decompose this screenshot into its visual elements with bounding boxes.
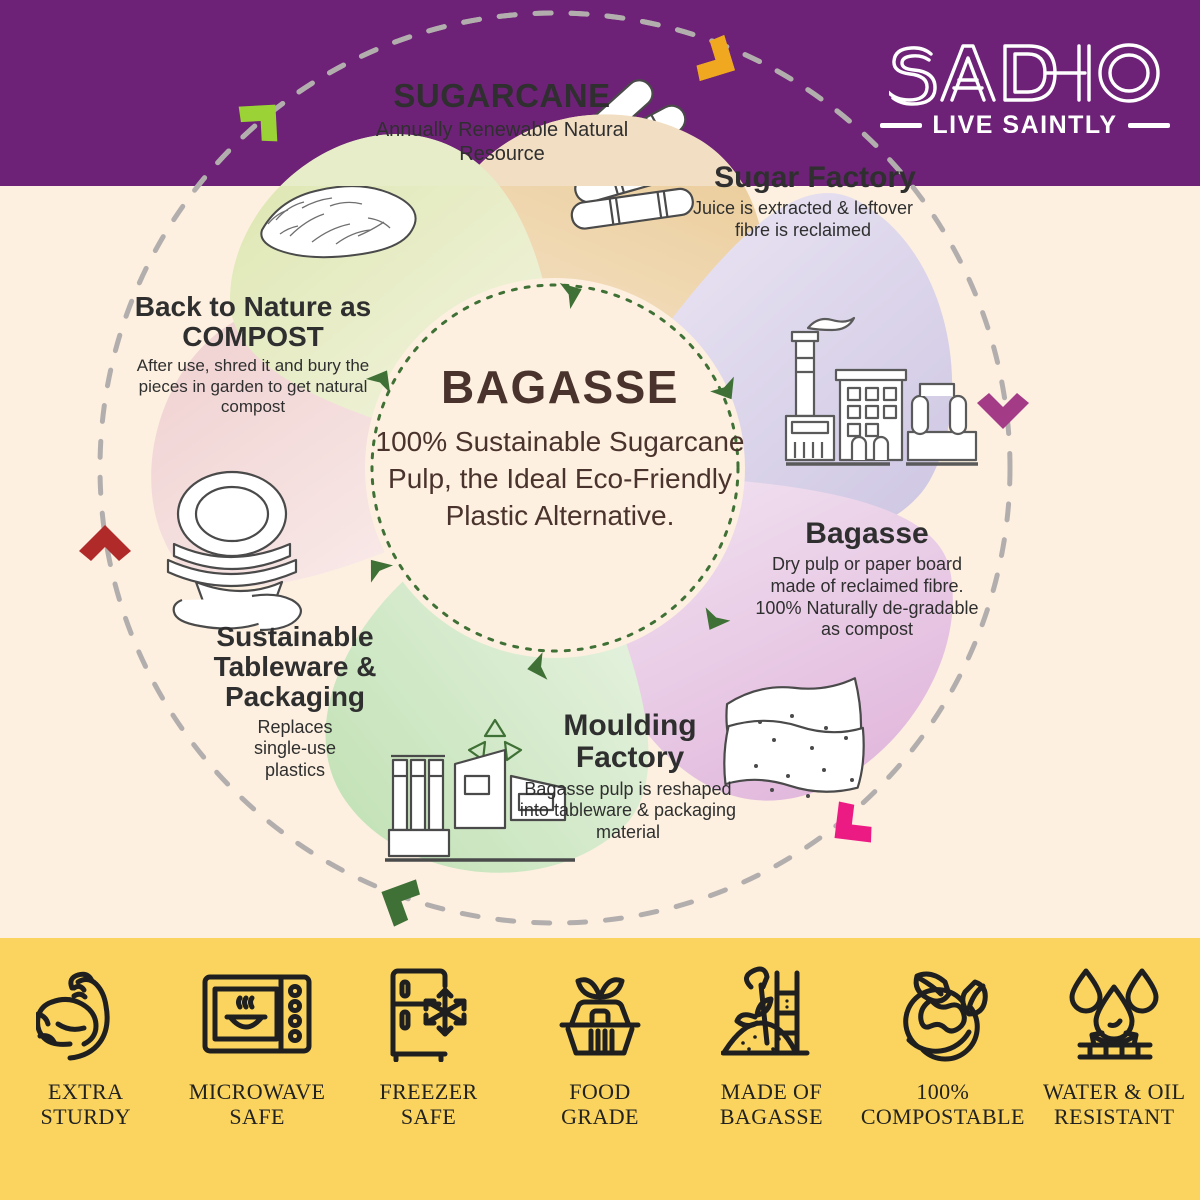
freezer-icon [381, 960, 477, 1068]
benefit-made-of-bagasse: MADE OFBAGASSE [696, 960, 846, 1129]
step-title-moulding-factory: Moulding Factory [520, 710, 740, 775]
arrow-top-left [232, 87, 295, 149]
step-desc-moulding-factory: Bagasse pulp is reshaped into tableware … [508, 779, 748, 844]
benefit-label-freezer-safe: FREEZERSAFE [379, 1080, 477, 1129]
step-title-compost: Back to Nature as COMPOST [128, 292, 378, 352]
hub-title: BAGASSE [370, 360, 750, 414]
step-label-compost: Back to Nature as COMPOST After use, shr… [128, 292, 378, 418]
arrow-left [79, 525, 131, 561]
water-oil-drops-icon [1064, 960, 1164, 1068]
step-title-tableware: Sustainable Tableware & Packaging [195, 622, 395, 713]
step-label-sugar-factory: Sugar Factory Juice is extracted & lefto… [700, 162, 930, 242]
microwave-icon [202, 960, 312, 1068]
benefit-label-microwave-safe: MICROWAVESAFE [189, 1080, 325, 1129]
step-desc-sugarcane: Annually Renewable Natural Resource [352, 118, 652, 166]
benefit-compostable: 100%COMPOSTABLE [868, 960, 1018, 1129]
step-desc-sugar-factory: Juice is extracted & leftover fibre is r… [688, 198, 918, 241]
step-title-sugar-factory: Sugar Factory [700, 162, 930, 194]
step-label-bagasse: Bagasse Dry pulp or paper board made of … [752, 518, 982, 641]
food-container-icon [548, 960, 652, 1068]
tableware-stack-icon [168, 472, 301, 630]
benefit-water-oil-resistant: WATER & OILRESISTANT [1039, 960, 1189, 1129]
benefit-label-made-of-bagasse: MADE OFBAGASSE [720, 1080, 823, 1129]
hub-label: BAGASSE 100% Sustainable Sugarcane Pulp,… [370, 360, 750, 535]
arrow-bottom-left [370, 868, 425, 930]
arrow-top-overlay [691, 30, 747, 93]
sugarcane-soil-icon [721, 960, 821, 1068]
infographic-root: LIVE SAINTLY SUGARCANE Annually Renewabl… [0, 0, 1200, 1200]
benefit-label-water-oil-resistant: WATER & OILRESISTANT [1043, 1080, 1186, 1129]
hub-description: 100% Sustainable Sugarcane Pulp, the Ide… [370, 424, 750, 535]
step-label-sugarcane: SUGARCANE Annually Renewable Natural Res… [352, 78, 652, 166]
step-desc-tableware: Replaces single-use plastics [235, 717, 355, 782]
globe-leaf-icon [893, 960, 993, 1068]
benefit-label-extra-sturdy: EXTRASTURDY [40, 1080, 130, 1129]
step-title-sugarcane: SUGARCANE [352, 78, 652, 114]
benefit-food-grade: FOODGRADE [525, 960, 675, 1129]
arrow-bottom-right [819, 795, 879, 858]
benefit-label-compostable: 100%COMPOSTABLE [861, 1080, 1025, 1129]
step-desc-compost: After use, shred it and bury the pieces … [128, 356, 378, 417]
benefit-microwave-safe: MICROWAVESAFE [182, 960, 332, 1129]
benefit-extra-sturdy: EXTRASTURDY [11, 960, 161, 1129]
step-title-bagasse: Bagasse [752, 518, 982, 550]
flexed-bicep-icon [36, 960, 136, 1068]
step-desc-bagasse: Dry pulp or paper board made of reclaime… [752, 554, 982, 640]
step-label-moulding-factory: Moulding Factory Bagasse pulp is reshape… [520, 710, 740, 844]
benefits-bar: EXTRASTURDY MICROWAVESAFE [0, 938, 1200, 1200]
benefit-label-food-grade: FOODGRADE [561, 1080, 639, 1129]
step-label-tableware: Sustainable Tableware & Packaging Replac… [195, 622, 395, 781]
benefit-freezer-safe: FREEZERSAFE [354, 960, 504, 1129]
